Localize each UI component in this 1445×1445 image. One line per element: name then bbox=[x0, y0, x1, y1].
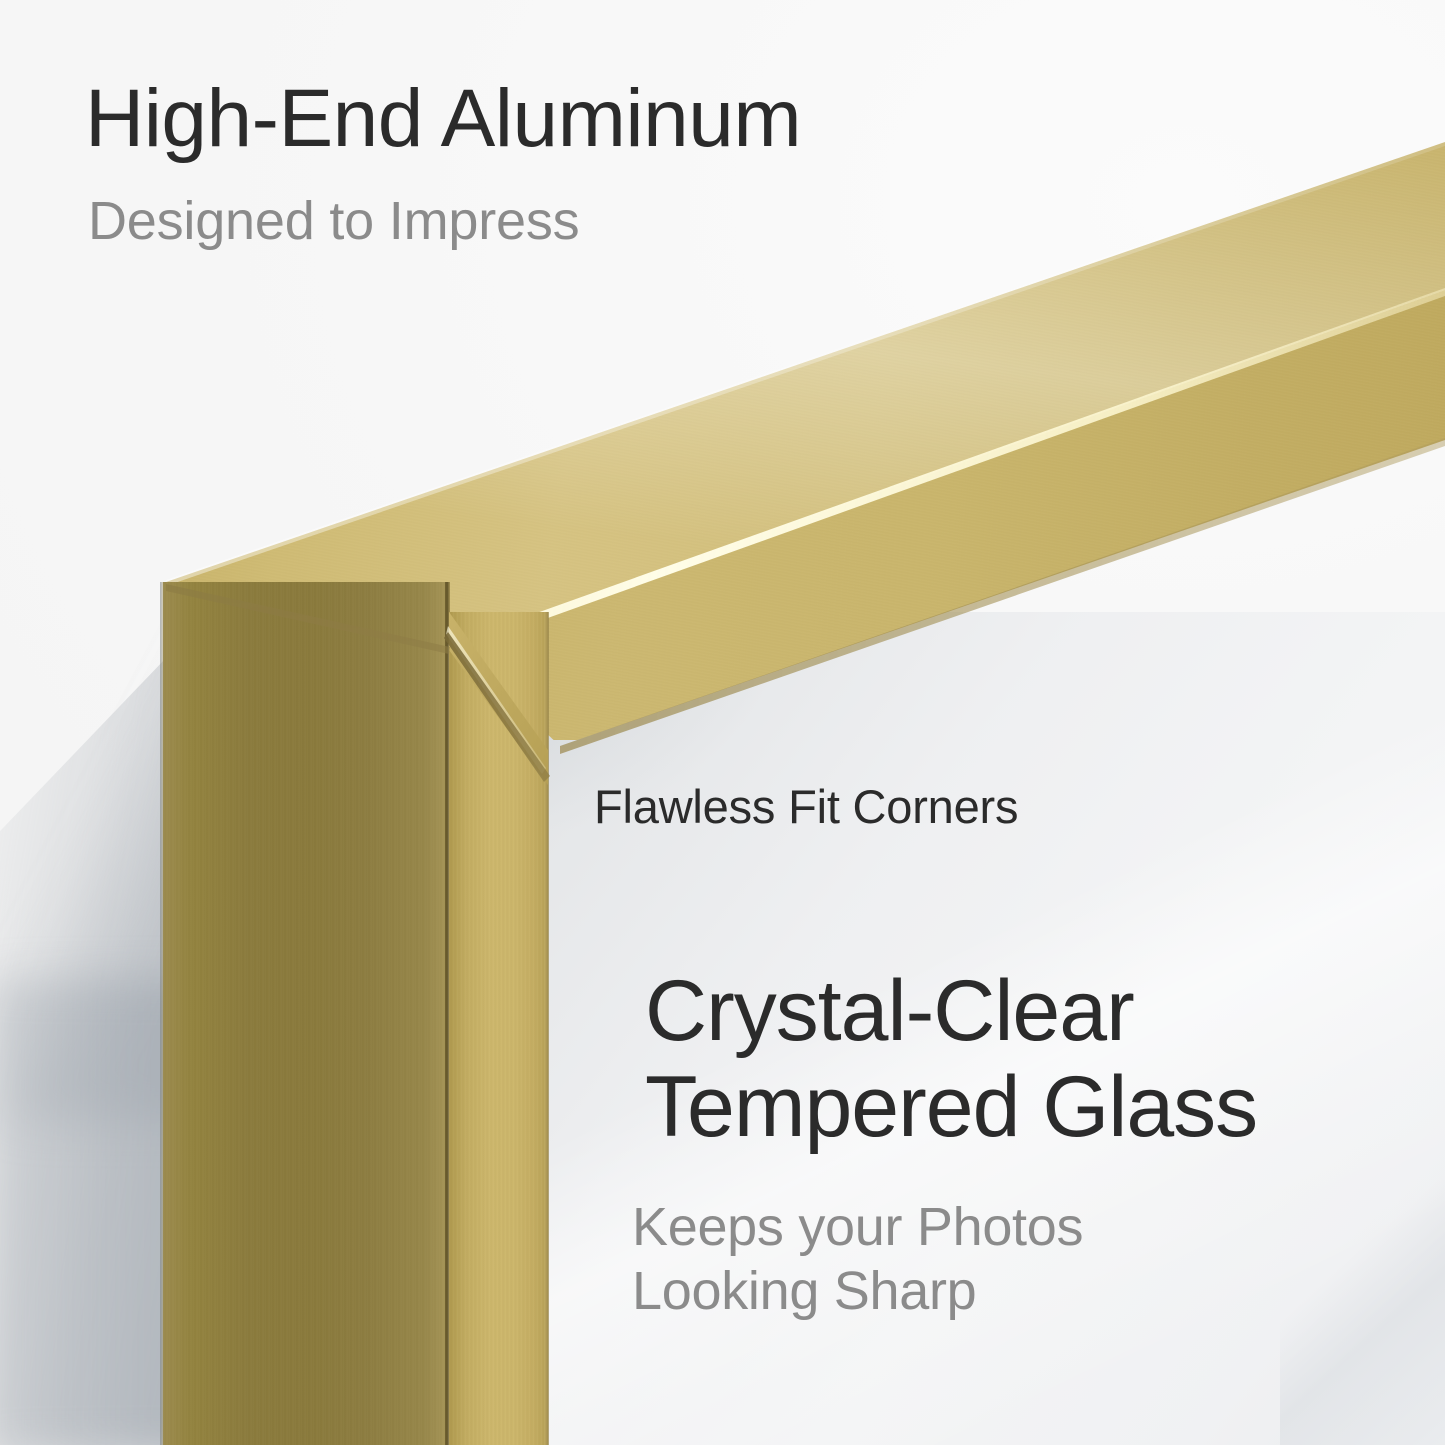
product-marketing-image: High-End Aluminum Designed to Impress Fl… bbox=[0, 0, 1445, 1445]
page-title: High-End Aluminum bbox=[85, 72, 801, 166]
callout-glass-line-2: Tempered Glass bbox=[645, 1059, 1257, 1155]
callout-glass-line-1: Crystal-Clear bbox=[645, 963, 1257, 1059]
callout-crystal-clear-tempered-glass: Crystal-Clear Tempered Glass bbox=[645, 963, 1257, 1156]
callout-sharp-line-1: Keeps your Photos bbox=[632, 1196, 1083, 1260]
page-subtitle: Designed to Impress bbox=[88, 190, 579, 252]
callout-sharp-line-2: Looking Sharp bbox=[632, 1260, 1083, 1324]
frame-cast-shadow-lower bbox=[0, 980, 205, 1445]
callout-flawless-fit-corners: Flawless Fit Corners bbox=[594, 779, 1018, 834]
callout-keeps-photos-sharp: Keeps your Photos Looking Sharp bbox=[632, 1196, 1083, 1323]
